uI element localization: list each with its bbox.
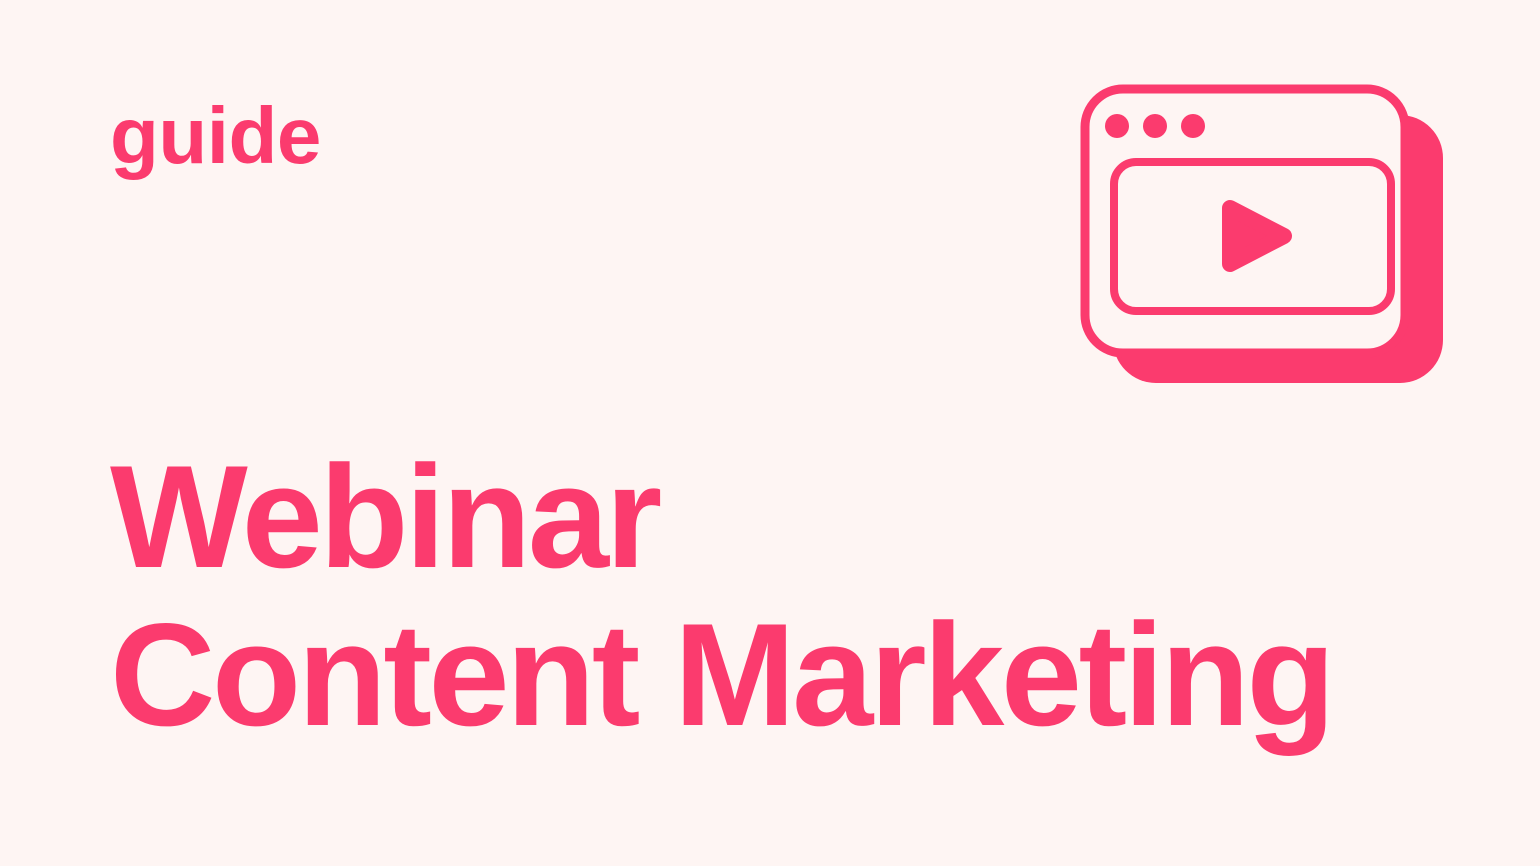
webinar-icon-svg [1070, 66, 1460, 396]
page-title: Webinar Content Marketing [110, 438, 1332, 754]
page-title-line-1: Webinar [110, 438, 1332, 596]
window-dot-2-icon [1143, 114, 1167, 138]
page-title-line-2: Content Marketing [110, 596, 1332, 754]
window-dot-1-icon [1105, 114, 1129, 138]
kicker-label: guide [110, 96, 321, 176]
window-dot-3-icon [1181, 114, 1205, 138]
guide-cover-page: guide Webinar Content Marketing [0, 0, 1540, 866]
webinar-video-window-icon [1070, 66, 1460, 396]
